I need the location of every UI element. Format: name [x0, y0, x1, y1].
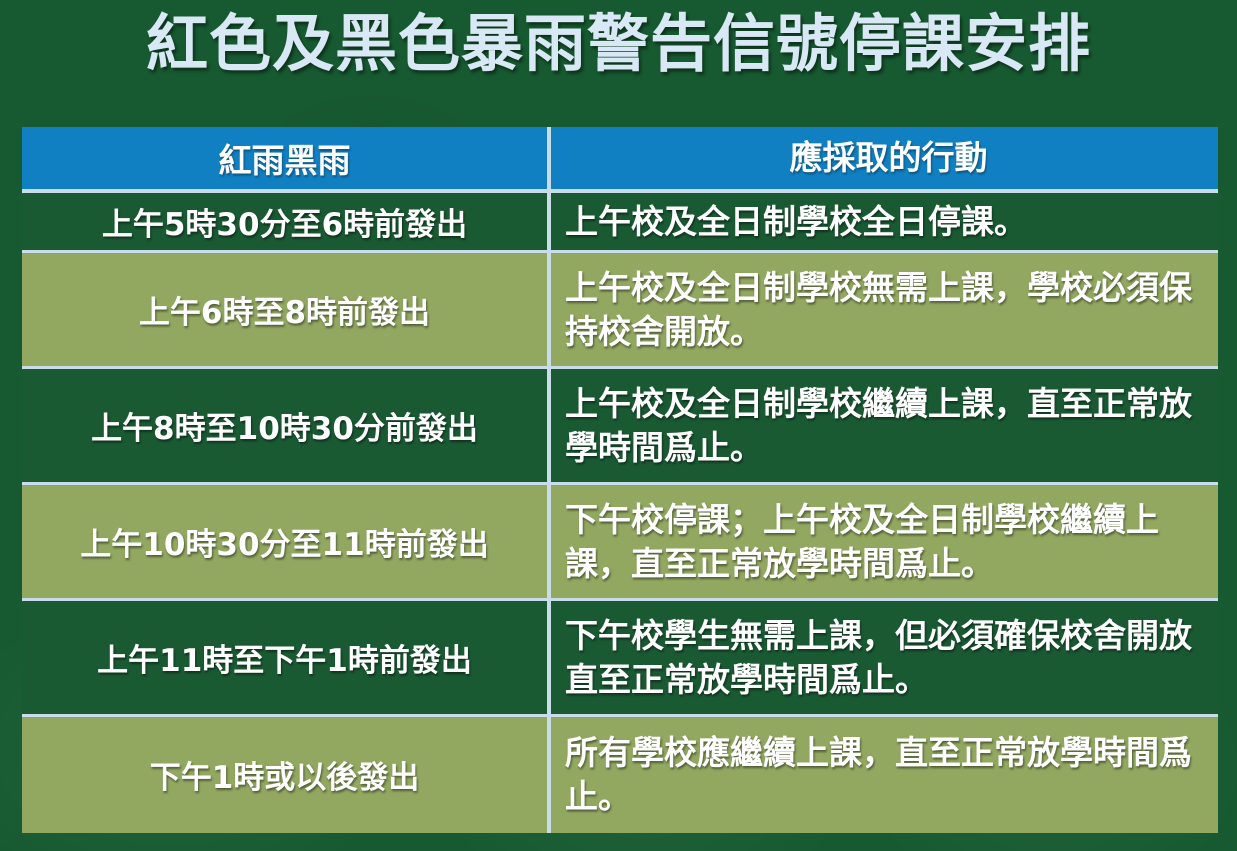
cell-action: 下午校停課；上午校及全日制學校繼續上課，直至正常放學時間爲止。	[551, 485, 1218, 598]
cell-action: 上午校及全日制學校無需上課，學校必須保持校舍開放。	[551, 253, 1218, 366]
cell-action: 下午校學生無需上課，但必須確保校舍開放直至正常放學時間爲止。	[551, 601, 1218, 714]
column-header-signal: 紅雨黑雨	[22, 127, 551, 189]
table-row: 下午1時或以後發出 所有學校應繼續上課，直至正常放學時間爲止。	[22, 717, 1218, 833]
class-arrangement-table: 紅雨黑雨 應採取的行動 上午5時30分至6時前發出 上午校及全日制學校全日停課。…	[22, 127, 1218, 833]
table-row: 上午10時30分至11時前發出 下午校停課；上午校及全日制學校繼續上課，直至正常…	[22, 485, 1218, 601]
column-header-action: 應採取的行動	[551, 127, 1218, 189]
cell-signal: 上午5時30分至6時前發出	[22, 193, 551, 250]
page-title: 紅色及黑色暴雨警告信號停課安排	[0, 8, 1237, 79]
cell-signal: 上午8時至10時30分前發出	[22, 369, 551, 482]
cell-action: 上午校及全日制學校全日停課。	[551, 193, 1218, 250]
cell-action: 所有學校應繼續上課，直至正常放學時間爲止。	[551, 717, 1218, 833]
table-row: 上午11時至下午1時前發出 下午校學生無需上課，但必須確保校舍開放直至正常放學時…	[22, 601, 1218, 717]
rainstorm-warning-class-arrangement-poster: 紅色及黑色暴雨警告信號停課安排 紅雨黑雨 應採取的行動 上午5時30分至6時前發…	[0, 0, 1237, 851]
cell-signal: 上午6時至8時前發出	[22, 253, 551, 366]
cell-action: 上午校及全日制學校繼續上課，直至正常放學時間爲止。	[551, 369, 1218, 482]
cell-signal: 上午10時30分至11時前發出	[22, 485, 551, 598]
cell-signal: 下午1時或以後發出	[22, 717, 551, 833]
table-row: 上午6時至8時前發出 上午校及全日制學校無需上課，學校必須保持校舍開放。	[22, 253, 1218, 369]
table-row: 上午8時至10時30分前發出 上午校及全日制學校繼續上課，直至正常放學時間爲止。	[22, 369, 1218, 485]
table-header-row: 紅雨黑雨 應採取的行動	[22, 127, 1218, 193]
table-row: 上午5時30分至6時前發出 上午校及全日制學校全日停課。	[22, 193, 1218, 253]
cell-signal: 上午11時至下午1時前發出	[22, 601, 551, 714]
